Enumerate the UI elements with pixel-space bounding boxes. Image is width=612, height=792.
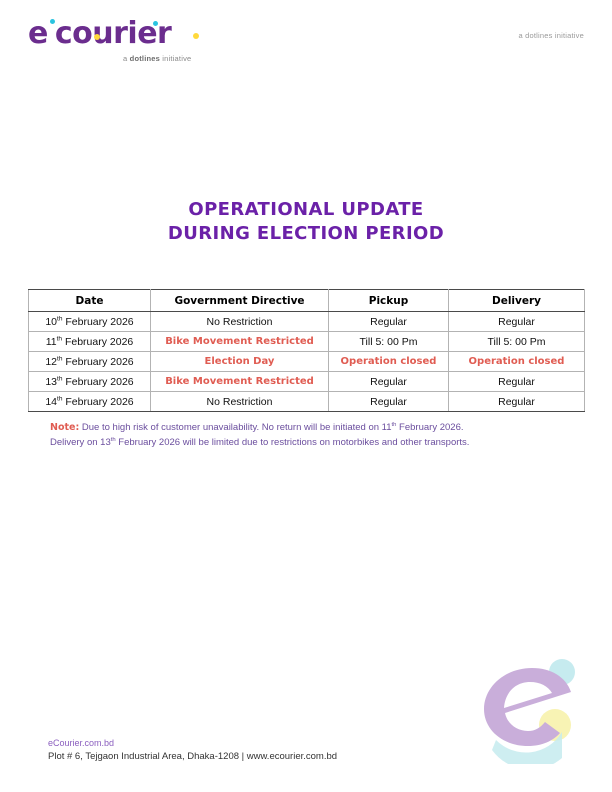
date-month-year: February 2026	[62, 336, 133, 348]
cell-government-directive: No Restriction	[151, 312, 329, 332]
date-day: 10	[45, 316, 57, 328]
cell-pickup: Regular	[329, 392, 449, 412]
cell-date: 10th February 2026	[29, 312, 151, 332]
operations-table-wrapper: Date Government Directive Pickup Deliver…	[28, 289, 584, 412]
cell-delivery: Regular	[449, 392, 585, 412]
logo-dot-cyan-i-icon	[153, 21, 158, 26]
cell-delivery: Regular	[449, 372, 585, 392]
header-right-brand: dotlines	[525, 31, 552, 40]
logo-text-e: e	[28, 16, 48, 51]
cell-pickup: Regular	[329, 312, 449, 332]
date-month-year: February 2026	[62, 376, 133, 388]
logo-tagline: a dotlines initiative	[123, 54, 191, 63]
watermark-yellow-dot-icon	[539, 709, 571, 741]
note-line-1: Note: Due to high risk of customer unava…	[50, 420, 580, 435]
note-line2-text-b: February 2026 will be limited due to res…	[116, 437, 470, 448]
page-title-line-1: OPERATIONAL UPDATE	[0, 198, 612, 222]
column-header-pickup: Pickup	[329, 290, 449, 312]
table-header-row: Date Government Directive Pickup Deliver…	[29, 290, 585, 312]
logo-wordmark: ecourier	[28, 18, 218, 50]
cell-date: 14th February 2026	[29, 392, 151, 412]
table-row: 12th February 2026Election DayOperation …	[29, 352, 585, 372]
note-section: Note: Due to high risk of customer unava…	[50, 420, 580, 450]
cell-delivery: Till 5: 00 Pm	[449, 332, 585, 352]
note-line2-text-a: Delivery on 13	[50, 437, 111, 448]
table-row: 10th February 2026No RestrictionRegularR…	[29, 312, 585, 332]
document-page: ecourier a dotlines initiative a dotline…	[0, 0, 612, 792]
date-month-year: February 2026	[62, 356, 133, 368]
cell-government-directive: Election Day	[151, 352, 329, 372]
date-day: 14	[45, 396, 57, 408]
column-header-date: Date	[29, 290, 151, 312]
tagline-brand: dotlines	[130, 54, 160, 63]
cell-government-directive: Bike Movement Restricted	[151, 332, 329, 352]
tagline-suffix: initiative	[160, 54, 191, 63]
date-month-year: February 2026	[62, 316, 133, 328]
cell-pickup: Regular	[329, 372, 449, 392]
ecourier-logo: ecourier a dotlines initiative	[28, 18, 218, 68]
footer-website-link[interactable]: eCourier.com.bd	[48, 737, 528, 750]
table-header: Date Government Directive Pickup Deliver…	[29, 290, 585, 312]
note-line1-text-a: Due to high risk of customer unavailabil…	[79, 422, 391, 433]
cell-pickup: Till 5: 00 Pm	[329, 332, 449, 352]
cell-government-directive: No Restriction	[151, 392, 329, 412]
date-day: 12	[45, 356, 57, 368]
page-title-line-2: DURING ELECTION PERIOD	[0, 222, 612, 246]
page-title: OPERATIONAL UPDATE DURING ELECTION PERIO…	[0, 198, 612, 246]
footer-address: Plot # 6, Tejgaon Industrial Area, Dhaka…	[48, 750, 528, 764]
page-header: ecourier a dotlines initiative a dotline…	[0, 0, 612, 78]
date-day: 13	[45, 376, 57, 388]
header-initiative-label: a dotlines initiative	[519, 31, 585, 40]
date-day: 11	[46, 336, 57, 348]
table-row: 14th February 2026No RestrictionRegularR…	[29, 392, 585, 412]
watermark-letter-e-icon	[484, 668, 571, 746]
logo-dot-yellow-icon	[94, 34, 100, 40]
page-footer: eCourier.com.bd Plot # 6, Tejgaon Indust…	[48, 737, 528, 764]
note-line1-text-b: February 2026.	[396, 422, 463, 433]
operations-table: Date Government Directive Pickup Deliver…	[28, 289, 585, 412]
date-month-year: February 2026	[62, 396, 133, 408]
header-right-suffix: initiative	[553, 31, 584, 40]
cell-delivery: Operation closed	[449, 352, 585, 372]
cell-date: 11th February 2026	[29, 332, 151, 352]
watermark-cyan-dot-icon	[549, 659, 575, 685]
cell-delivery: Regular	[449, 312, 585, 332]
cell-pickup: Operation closed	[329, 352, 449, 372]
cell-government-directive: Bike Movement Restricted	[151, 372, 329, 392]
cell-date: 12th February 2026	[29, 352, 151, 372]
column-header-government-directive: Government Directive	[151, 290, 329, 312]
logo-dot-yellow-r-icon	[193, 33, 199, 39]
table-row: 13th February 2026Bike Movement Restrict…	[29, 372, 585, 392]
table-row: 11th February 2026Bike Movement Restrict…	[29, 332, 585, 352]
note-line-2: Delivery on 13th February 2026 will be l…	[50, 435, 580, 450]
cell-date: 13th February 2026	[29, 372, 151, 392]
column-header-delivery: Delivery	[449, 290, 585, 312]
tagline-prefix: a	[123, 54, 130, 63]
table-body: 10th February 2026No RestrictionRegularR…	[29, 312, 585, 412]
note-label: Note:	[50, 422, 79, 433]
logo-dot-cyan-icon	[50, 19, 55, 24]
